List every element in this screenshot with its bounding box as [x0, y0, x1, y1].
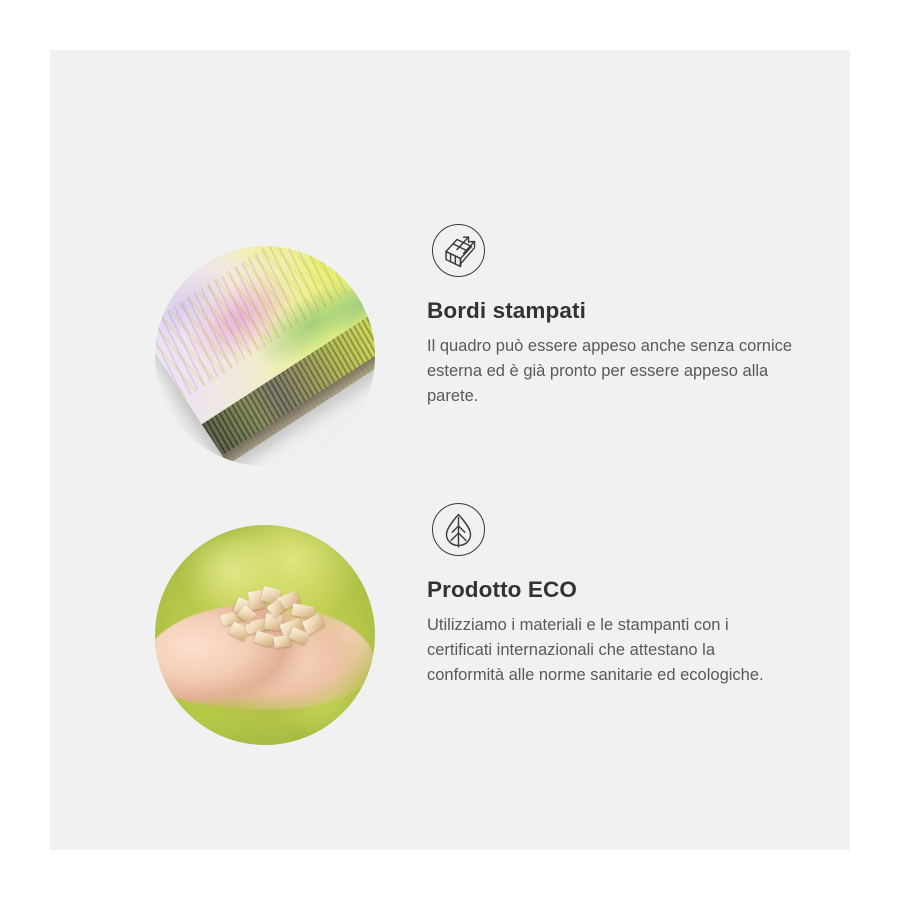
eco-photo-backdrop — [155, 525, 375, 745]
leaf-icon — [432, 503, 485, 556]
printed-edges-icon — [432, 224, 485, 277]
wood-chips-pile — [217, 587, 331, 662]
eco-wood-chips-photo — [155, 525, 375, 745]
product-feature-page: Bordi stampati Il quadro può essere appe… — [0, 0, 900, 900]
feature-title: Bordi stampati — [427, 297, 802, 324]
canvas-corner-photo — [155, 246, 375, 466]
feature-media-bordi-stampati — [105, 196, 345, 436]
feature-media-prodotto-eco — [105, 475, 345, 715]
canvas-photo-backdrop — [155, 246, 375, 466]
canvas-slab — [155, 246, 375, 465]
feature-description: Il quadro può essere appeso anche senza … — [427, 334, 793, 409]
content-panel: Bordi stampati Il quadro può essere appe… — [50, 50, 850, 850]
feature-copy-bordi-stampati: Bordi stampati Il quadro può essere appe… — [427, 196, 802, 409]
feature-copy-prodotto-eco: Prodotto ECO Utilizziamo i materiali e l… — [427, 475, 802, 688]
feature-title: Prodotto ECO — [427, 576, 802, 603]
feature-description: Utilizziamo i materiali e le stampanti c… — [427, 613, 793, 688]
